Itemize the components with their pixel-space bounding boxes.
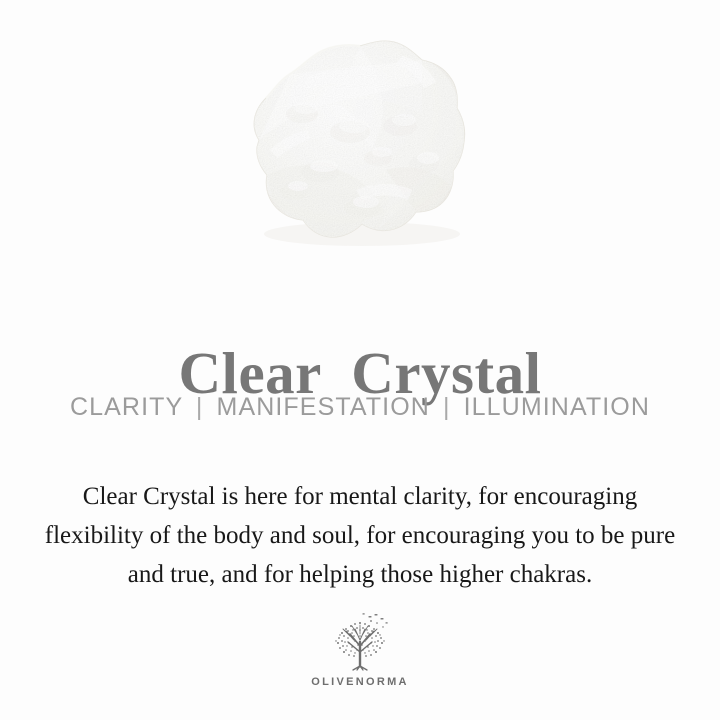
keyword-manifestation: MANIFESTATION xyxy=(217,393,430,421)
crystal-stone-icon xyxy=(210,22,510,284)
keyword-separator-1: | xyxy=(191,393,209,421)
crystal-image-container xyxy=(0,22,720,284)
crystal-shadow xyxy=(264,222,460,246)
keyword-separator-2: | xyxy=(438,393,456,421)
brand-name: OLIVENORMA xyxy=(0,676,720,688)
product-info-card: Clear Crystal CLARITY | MANIFESTATION | … xyxy=(0,0,720,720)
olive-tree-icon xyxy=(324,612,396,674)
keyword-illumination: ILLUMINATION xyxy=(464,393,650,421)
keyword-list: CLARITY | MANIFESTATION | ILLUMINATION xyxy=(0,392,720,422)
keyword-clarity: CLARITY xyxy=(70,393,183,421)
brand-logo: OLIVENORMA xyxy=(0,612,720,688)
product-description: Clear Crystal is here for mental clarity… xyxy=(36,477,684,594)
